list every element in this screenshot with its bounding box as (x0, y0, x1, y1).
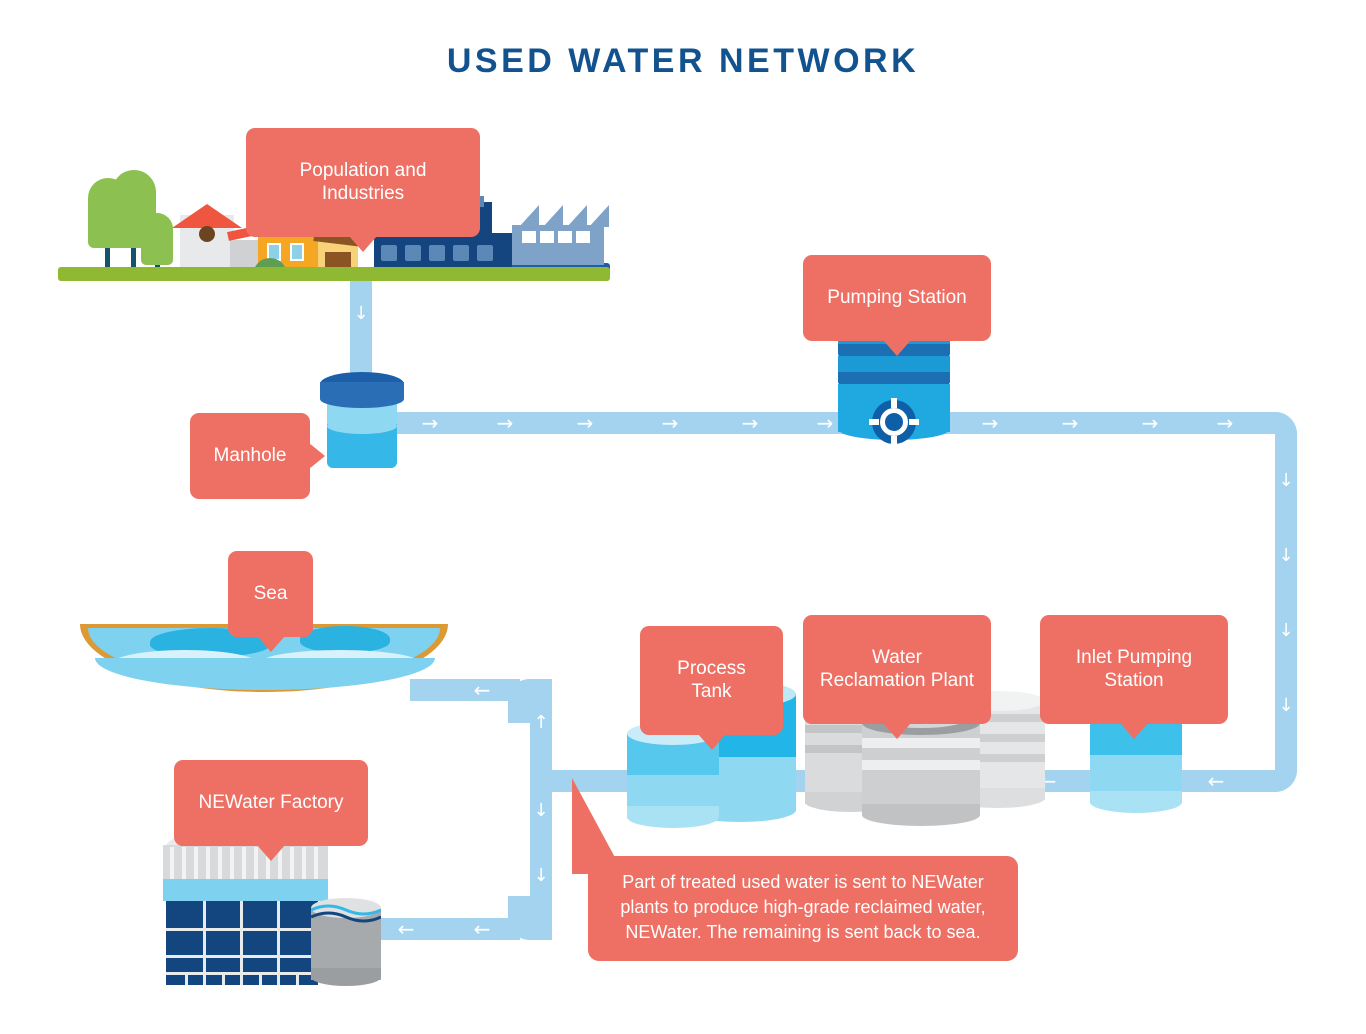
label-tail-icon (257, 845, 285, 861)
roof-slat (170, 847, 174, 879)
sea-wave-dark (300, 626, 390, 652)
label-tail-icon (257, 636, 285, 652)
factory-window (540, 231, 554, 243)
label-process-tank[interactable]: Process Tank (640, 626, 783, 735)
sawtooth-roof (543, 205, 563, 227)
window-icon (290, 243, 304, 261)
roof-slat (290, 847, 294, 879)
grid-line (203, 901, 206, 985)
label-tail-icon (883, 723, 911, 739)
grey-tank-ring (862, 760, 980, 770)
manhole-lid-bottom (320, 390, 404, 408)
valve-wheel-ring (880, 408, 908, 436)
grid-line (240, 901, 243, 985)
roof-slat (242, 847, 246, 879)
factory-window (429, 245, 445, 261)
pipe-manhole-to-pump (385, 412, 1275, 434)
factory-window (381, 245, 397, 261)
roof-slat (314, 847, 318, 879)
newater-band (163, 879, 328, 901)
pipe-city-to-manhole (350, 281, 372, 381)
label-text: Water Reclamation Plant (820, 647, 974, 691)
roof-slat (206, 847, 210, 879)
factory-window (576, 231, 590, 243)
label-text: Sea (254, 583, 288, 604)
label-tail-icon (883, 340, 911, 356)
page-title: USED WATER NETWORK (0, 42, 1366, 81)
factory-window (405, 245, 421, 261)
label-tail-icon (698, 734, 726, 750)
factory-window (522, 231, 536, 243)
label-newater-factory[interactable]: NEWater Factory (174, 760, 368, 846)
grey-tank-center-base (862, 804, 980, 826)
label-water-reclamation-plant[interactable]: Water Reclamation Plant (803, 615, 991, 724)
label-text: Inlet Pumping Station (1076, 647, 1192, 691)
pipe-to-inlet-station (1180, 770, 1260, 792)
sawtooth-roof (567, 205, 587, 227)
factory-window (453, 245, 469, 261)
label-text: NEWater Factory (199, 792, 344, 813)
manhole-water-surface (327, 418, 397, 434)
house-window-round (199, 226, 215, 242)
label-inlet-pumping-station[interactable]: Inlet Pumping Station (1040, 615, 1228, 724)
label-tail-icon (349, 236, 377, 252)
roof-slat (218, 847, 222, 879)
process-tank-small-base (627, 806, 719, 828)
grid-line (222, 972, 225, 985)
valve-spoke (891, 398, 897, 408)
label-population-and-industries[interactable]: Population and Industries (246, 128, 480, 237)
label-sea[interactable]: Sea (228, 551, 313, 637)
valve-spoke (869, 419, 879, 425)
house-roof-icon (172, 204, 242, 228)
newater-tank-base (311, 968, 381, 986)
roof-slat (182, 847, 186, 879)
infographic-canvas: USED WATER NETWORK ↓ → → → → → → → → → →… (0, 0, 1366, 1034)
label-manhole[interactable]: Manhole (190, 413, 310, 499)
label-tail-icon (309, 443, 325, 469)
ground-strip (58, 267, 610, 281)
label-text: Manhole (214, 445, 287, 466)
factory-window (477, 245, 493, 261)
label-tail-icon (1120, 723, 1148, 739)
label-text: Process Tank (677, 658, 746, 702)
valve-spoke (909, 419, 919, 425)
roof-slat (194, 847, 198, 879)
grid-line (185, 972, 188, 985)
valve-spoke (891, 436, 897, 446)
newater-tank-waves (311, 898, 381, 926)
label-pumping-station[interactable]: Pumping Station (803, 255, 991, 341)
note-text: Part of treated used water is sent to NE… (620, 872, 985, 942)
sawtooth-roof (589, 205, 609, 227)
grid-line (259, 972, 262, 985)
tree-icon (141, 213, 173, 265)
label-text: Population and Industries (300, 160, 427, 204)
roof-slat (302, 847, 306, 879)
pipe-right-descend (1275, 450, 1297, 770)
roof-slat (230, 847, 234, 879)
grid-line (277, 901, 280, 985)
sea-foreground-water (95, 658, 435, 690)
grid-line (296, 972, 299, 985)
factory-window (558, 231, 572, 243)
inlet-tank-base (1090, 791, 1182, 813)
note-bubble[interactable]: Part of treated used water is sent to NE… (588, 856, 1018, 961)
grey-tank-ring (862, 738, 980, 748)
label-text: Pumping Station (827, 287, 966, 308)
sawtooth-roof (519, 205, 539, 227)
pipe-to-sea (410, 679, 520, 701)
pipe-to-newater (370, 918, 520, 940)
